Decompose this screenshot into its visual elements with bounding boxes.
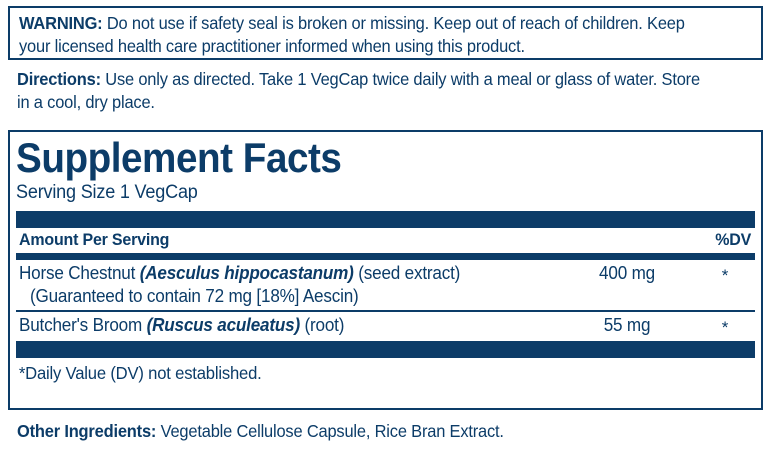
supplement-facts-title: Supplement Facts	[16, 134, 696, 180]
table-header-row: Amount Per Serving %DV	[16, 228, 755, 253]
supplement-label: WARNING: Do not use if safety seal is br…	[0, 0, 773, 452]
other-ingredients-label: Other Ingredients:	[17, 421, 156, 441]
header-bar-medium	[16, 253, 755, 260]
other-ingredients-body: Vegetable Cellulose Capsule, Rice Bran E…	[156, 421, 504, 441]
ingredient-amount: 55 mg	[575, 314, 680, 337]
ingredient-name-common: Horse Chestnut	[19, 263, 140, 283]
ingredient-name: Butcher's Broom (Ruscus aculeatus) (root…	[19, 314, 551, 337]
ingredient-subline: (Guaranteed to contain 72 mg [18%] Aesci…	[30, 285, 562, 308]
warning-body: Do not use if safety seal is broken or m…	[19, 13, 685, 56]
ingredient-name-part: (seed extract)	[354, 263, 460, 283]
directions-label: Directions:	[17, 69, 101, 89]
ingredient-percent-dv: *	[713, 316, 737, 339]
warning-box: WARNING: Do not use if safety seal is br…	[8, 6, 763, 60]
other-ingredients-text: Other Ingredients: Vegetable Cellulose C…	[17, 420, 713, 442]
directions-text: Directions: Use only as directed. Take 1…	[17, 68, 713, 114]
ingredient-name-latin: (Aesculus hippocastanum)	[140, 263, 354, 283]
warning-label: WARNING:	[19, 13, 102, 33]
ingredient-amount: 400 mg	[575, 262, 680, 285]
ingredient-name-common: Butcher's Broom	[19, 315, 147, 335]
ingredient-percent-dv: *	[713, 264, 737, 287]
footer-bar-thick	[16, 341, 755, 358]
header-bar-thick	[16, 211, 755, 228]
directions-body: Use only as directed. Take 1 VegCap twic…	[17, 69, 700, 112]
warning-text: WARNING: Do not use if safety seal is br…	[19, 12, 708, 58]
table-row: Butcher's Broom (Ruscus aculeatus) (root…	[16, 312, 755, 339]
ingredient-name-latin: (Ruscus aculeatus)	[147, 315, 300, 335]
ingredient-name-part: (root)	[300, 315, 344, 335]
column-header-percent-dv: %DV	[715, 230, 751, 250]
ingredient-name: Horse Chestnut (Aesculus hippocastanum) …	[19, 262, 551, 285]
column-header-amount-per-serving: Amount Per Serving	[19, 230, 169, 250]
supplement-facts-panel: Supplement Facts Serving Size 1 VegCap A…	[8, 130, 763, 410]
serving-size: Serving Size 1 VegCap	[16, 180, 718, 204]
daily-value-footnote: *Daily Value (DV) not established.	[16, 358, 718, 384]
table-row: Horse Chestnut (Aesculus hippocastanum) …	[16, 260, 755, 310]
